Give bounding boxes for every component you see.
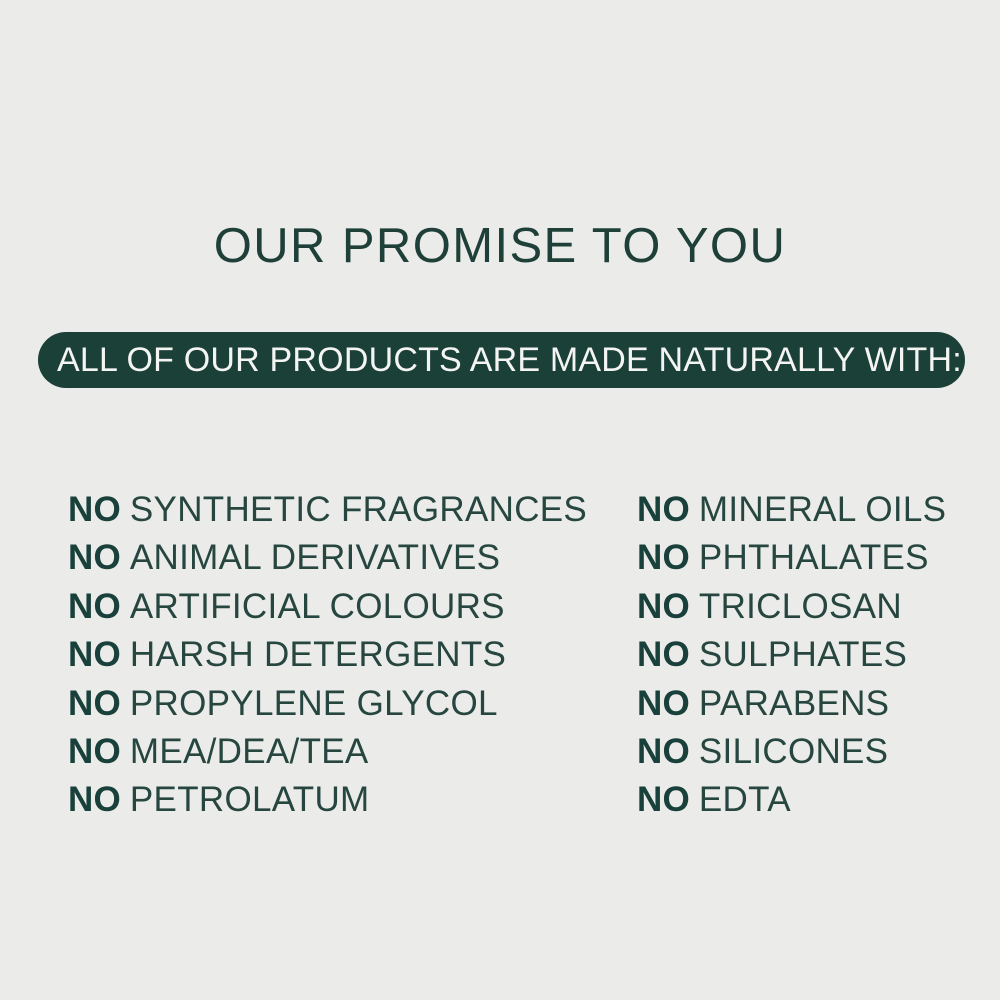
exclusion-item-label: ANIMAL DERIVATIVES <box>130 534 500 582</box>
exclusion-item-label: ARTIFICIAL COLOURS <box>130 583 505 631</box>
exclusion-no-prefix: NO <box>637 583 690 631</box>
exclusion-no-prefix: NO <box>68 776 121 824</box>
exclusion-item-label: PROPYLENE GLYCOL <box>130 680 498 728</box>
exclusion-row: NOSYNTHETIC FRAGRANCES <box>68 486 587 534</box>
promise-card: OUR PROMISE TO YOU ALL OF OUR PRODUCTS A… <box>0 0 1000 1000</box>
exclusion-no-prefix: NO <box>68 631 121 679</box>
exclusion-item-label: MINERAL OILS <box>699 486 946 534</box>
exclusion-row: NOEDTA <box>637 776 946 824</box>
exclusion-item-label: MEA/DEA/TEA <box>130 728 369 776</box>
exclusion-row: NOPARABENS <box>637 680 946 728</box>
exclusion-no-prefix: NO <box>637 680 690 728</box>
page-title: OUR PROMISE TO YOU <box>0 216 1000 276</box>
exclusion-no-prefix: NO <box>637 534 690 582</box>
exclusion-no-prefix: NO <box>637 776 690 824</box>
exclusion-item-label: HARSH DETERGENTS <box>130 631 506 679</box>
exclusion-item-label: SILICONES <box>699 728 888 776</box>
exclusion-no-prefix: NO <box>68 680 121 728</box>
exclusion-no-prefix: NO <box>637 631 690 679</box>
exclusion-item-label: SULPHATES <box>699 631 907 679</box>
exclusion-item-label: PETROLATUM <box>130 776 370 824</box>
exclusion-column-right: NOMINERAL OILSNOPHTHALATESNOTRICLOSANNOS… <box>637 486 946 825</box>
exclusion-item-label: EDTA <box>699 776 791 824</box>
promise-banner-label: ALL OF OUR PRODUCTS ARE MADE NATURALLY W… <box>57 342 962 378</box>
exclusion-row: NOMEA/DEA/TEA <box>68 728 587 776</box>
exclusion-item-label: SYNTHETIC FRAGRANCES <box>130 486 587 534</box>
exclusion-lists: NOSYNTHETIC FRAGRANCESNOANIMAL DERIVATIV… <box>0 486 1000 836</box>
exclusion-row: NOPHTHALATES <box>637 534 946 582</box>
exclusion-row: NOARTIFICIAL COLOURS <box>68 583 587 631</box>
exclusion-no-prefix: NO <box>637 486 690 534</box>
exclusion-item-label: PHTHALATES <box>699 534 929 582</box>
exclusion-no-prefix: NO <box>68 534 121 582</box>
exclusion-column-left: NOSYNTHETIC FRAGRANCESNOANIMAL DERIVATIV… <box>68 486 587 825</box>
exclusion-no-prefix: NO <box>68 486 121 534</box>
exclusion-row: NOANIMAL DERIVATIVES <box>68 534 587 582</box>
exclusion-row: NOHARSH DETERGENTS <box>68 631 587 679</box>
exclusion-no-prefix: NO <box>68 583 121 631</box>
exclusion-item-label: TRICLOSAN <box>699 583 902 631</box>
exclusion-row: NOSILICONES <box>637 728 946 776</box>
exclusion-row: NOMINERAL OILS <box>637 486 946 534</box>
exclusion-row: NOSULPHATES <box>637 631 946 679</box>
exclusion-no-prefix: NO <box>637 728 690 776</box>
exclusion-no-prefix: NO <box>68 728 121 776</box>
exclusion-item-label: PARABENS <box>699 680 889 728</box>
exclusion-row: NOPETROLATUM <box>68 776 587 824</box>
promise-banner: ALL OF OUR PRODUCTS ARE MADE NATURALLY W… <box>38 332 965 388</box>
exclusion-row: NOTRICLOSAN <box>637 583 946 631</box>
exclusion-row: NOPROPYLENE GLYCOL <box>68 680 587 728</box>
